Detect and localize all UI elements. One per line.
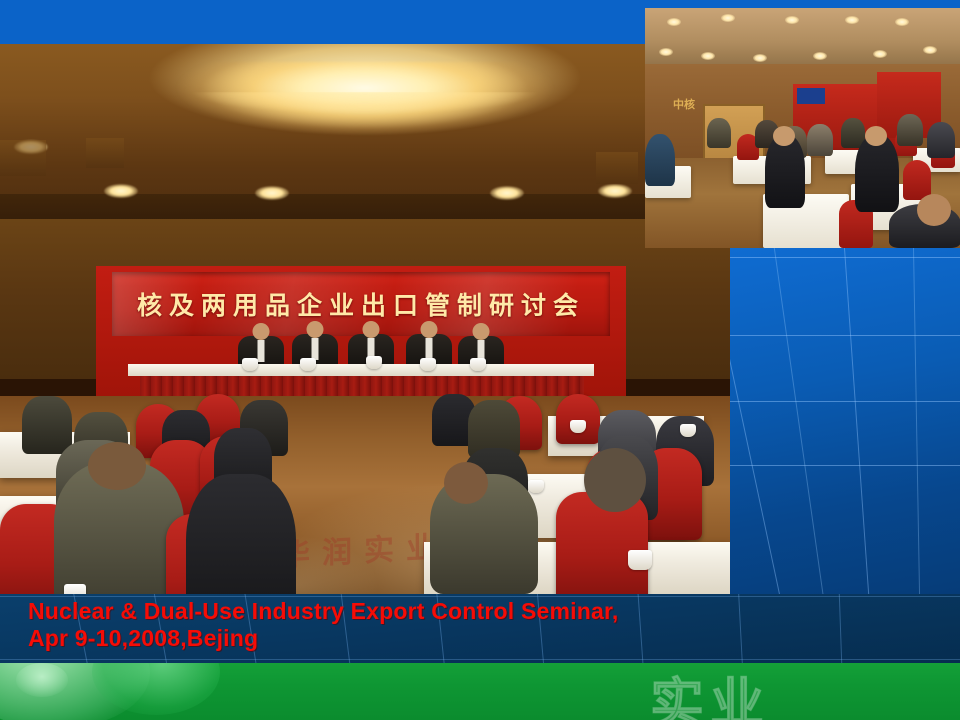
seminar-caption: Nuclear & Dual-Use Industry Export Contr…	[0, 594, 960, 663]
wall-logo-text: 中核	[673, 96, 695, 112]
logo-watermark: 实业	[650, 663, 770, 720]
globe-grid-panel-right	[730, 247, 960, 594]
hall-banner: 核及两用品企业出口管制研讨会	[112, 272, 610, 336]
company-logo-bar: 实业 杭州华润实业有限公司 HANGZHOU HUARUN INDUSTRY C…	[0, 663, 960, 720]
caption-line-1: Nuclear & Dual-Use Industry Export Contr…	[28, 598, 618, 625]
attendees-photo: 中核	[645, 8, 960, 248]
hall-banner-text: 核及两用品企业出口管制研讨会	[112, 286, 610, 322]
caption-line-2: Apr 9-10,2008,Bejing	[28, 625, 258, 652]
logo-bubble-small	[16, 663, 68, 697]
presentation-slide: 核及两用品企业出口管制研讨会 华润实业	[0, 0, 960, 720]
seminar-hall-photo: 核及两用品企业出口管制研讨会 华润实业	[0, 44, 730, 594]
